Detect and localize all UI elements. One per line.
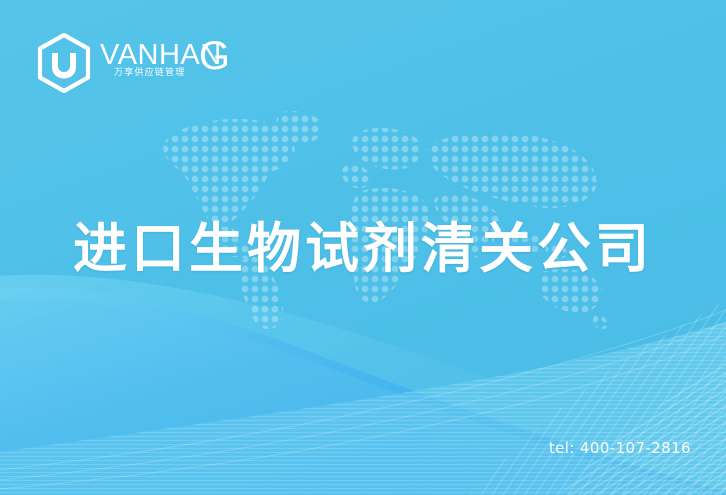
logo-wordmark-g: G (199, 36, 230, 76)
contact-phone[interactable]: tel: 400-107-2816 (549, 441, 691, 456)
promo-banner: VANHAN G 万享供应链管理 进口生物试剂清关公司 tel: 400-107… (0, 0, 726, 495)
page-title: 进口生物试剂清关公司 (0, 222, 726, 276)
brand-logo[interactable]: VANHAN G 万享供应链管理 (36, 34, 226, 92)
logo-subtitle: 万享供应链管理 (114, 69, 185, 78)
hexagon-u-icon (36, 33, 92, 93)
logo-wordmark-block: VANHAN G 万享供应链管理 (100, 37, 226, 89)
